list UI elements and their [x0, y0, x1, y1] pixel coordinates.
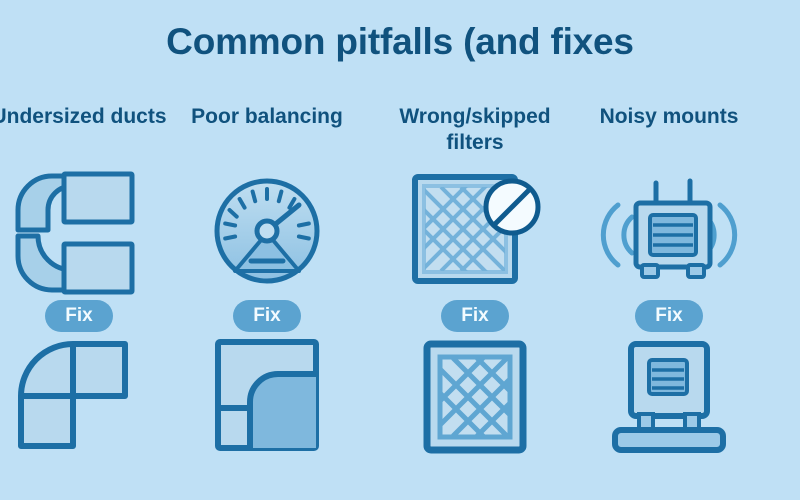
column-undersized-ducts: Undersized ducts Fix — [0, 104, 174, 484]
fix-badge[interactable]: Fix — [441, 300, 508, 332]
problem-icon-slot — [172, 166, 362, 296]
fix-row: Fix — [574, 296, 764, 336]
fix-badge[interactable]: Fix — [635, 300, 702, 332]
fix-row: Fix — [172, 296, 362, 336]
column-label: Poor balancing — [172, 104, 362, 166]
problem-icon-slot — [380, 166, 570, 296]
fix-badge[interactable]: Fix — [45, 300, 112, 332]
fix-icon-slot — [0, 336, 174, 460]
filter-mesh-prohibited-icon — [401, 169, 549, 293]
column-label: Undersized ducts — [0, 104, 174, 166]
gauge-dial-icon — [211, 175, 323, 287]
column-wrong-skipped-filters: Wrong/skipped filters — [380, 104, 570, 484]
fix-row: Fix — [0, 296, 174, 336]
balanced-damper-icon — [212, 336, 322, 454]
vibrating-unit-icon — [596, 173, 742, 289]
problem-icon-slot — [574, 166, 764, 296]
fix-badge[interactable]: Fix — [233, 300, 300, 332]
fix-row: Fix — [380, 296, 570, 336]
column-label: Noisy mounts — [574, 104, 764, 166]
fix-icon-slot — [172, 336, 362, 460]
page-title: Common pitfalls (and fixes — [0, 22, 800, 63]
fix-icon-slot — [574, 336, 764, 460]
infographic-canvas: Common pitfalls (and fixes Undersized du… — [0, 0, 800, 500]
column-label: Wrong/skipped filters — [380, 104, 570, 166]
column-noisy-mounts: Noisy mounts — [574, 104, 764, 484]
fix-icon-slot — [380, 336, 570, 460]
undersized-duct-elbows-icon — [4, 168, 154, 294]
wide-radius-duct-elbow-icon — [13, 336, 145, 454]
filter-mesh-correct-icon — [419, 336, 531, 458]
problem-icon-slot — [0, 166, 174, 296]
column-poor-balancing: Poor balancing — [172, 104, 362, 484]
isolation-pad-mounted-unit-icon — [607, 336, 731, 458]
